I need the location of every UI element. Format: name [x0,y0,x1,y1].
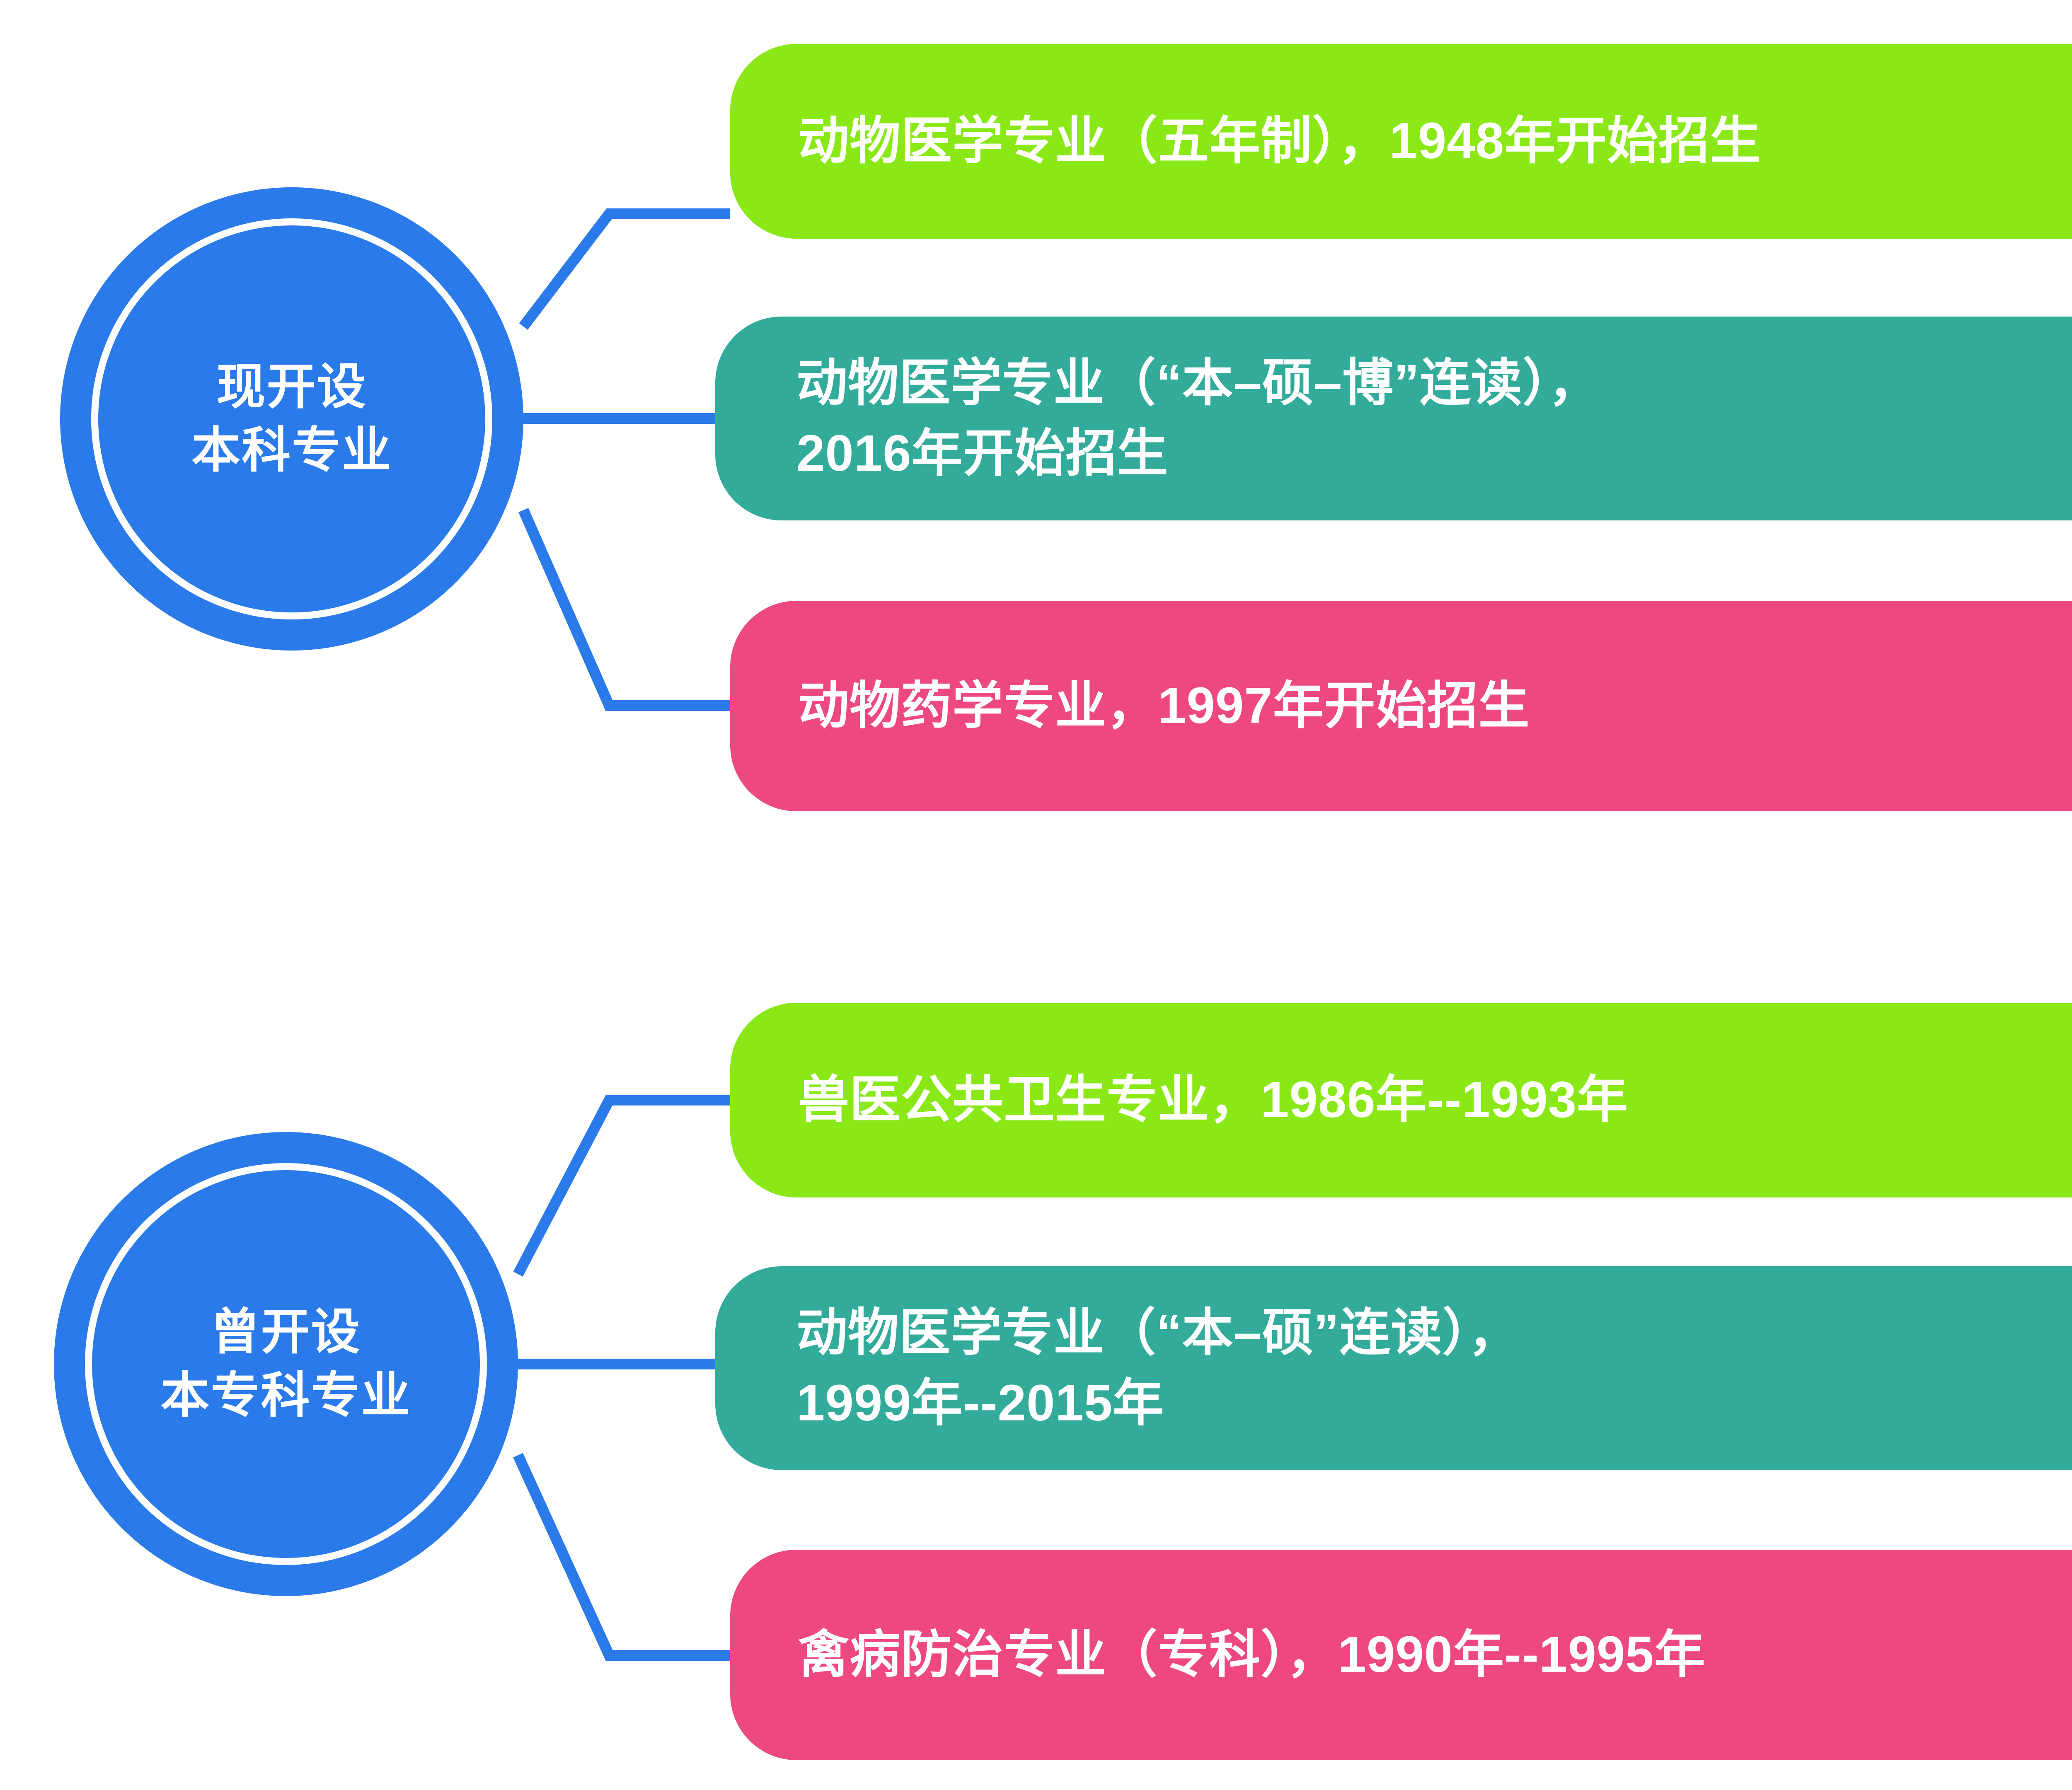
program-pill-pink-current[interactable]: 动物药学专业，1997年开始招生 [730,601,2072,811]
program-pill-text: 动物医学专业（五年制），1948年开始招生 [730,106,1761,177]
connector-g2-top [518,1100,730,1274]
program-pill-text: 动物医学专业（“本–硕–博”连读）， 2016年开始招生 [715,348,1600,489]
program-pill-teal-current[interactable]: 动物医学专业（“本–硕–博”连读）， 2016年开始招生 [715,317,2072,520]
program-pill-text: 动物医学专业（“本–硕”连读）， 1999年--2015年 [715,1298,1520,1438]
program-pill-teal-former[interactable]: 动物医学专业（“本–硕”连读）， 1999年--2015年 [715,1266,2072,1470]
hub-label-current-programs: 现开设 本科专业 [191,356,392,483]
program-pill-green-former[interactable]: 兽医公共卫生专业，1986年--1993年 [730,1003,2072,1197]
connector-g2-bottom [518,1455,730,1655]
program-pill-text: 动物药学专业，1997年开始招生 [730,671,1530,741]
connector-g1-bottom [523,510,730,706]
program-pill-text: 兽医公共卫生专业，1986年--1993年 [730,1065,1628,1135]
program-pill-pink-former[interactable]: 禽病防治专业（专科），1990年--1995年 [730,1550,2072,1760]
connector-g1-top [523,214,730,327]
program-pill-green-current[interactable]: 动物医学专业（五年制），1948年开始招生 [730,44,2072,239]
hub-label-former-programs: 曾开设 本专科专业 [160,1301,411,1428]
hub-circle-current-programs[interactable]: 现开设 本科专业 [60,187,523,651]
hub-circle-former-programs[interactable]: 曾开设 本专科专业 [54,1132,518,1596]
program-pill-text: 禽病防治专业（专科），1990年--1995年 [730,1620,1706,1690]
infographic-canvas: 现开设 本科专业 动物医学专业（五年制），1948年开始招生 动物医学专业（“本… [0,0,2072,1790]
